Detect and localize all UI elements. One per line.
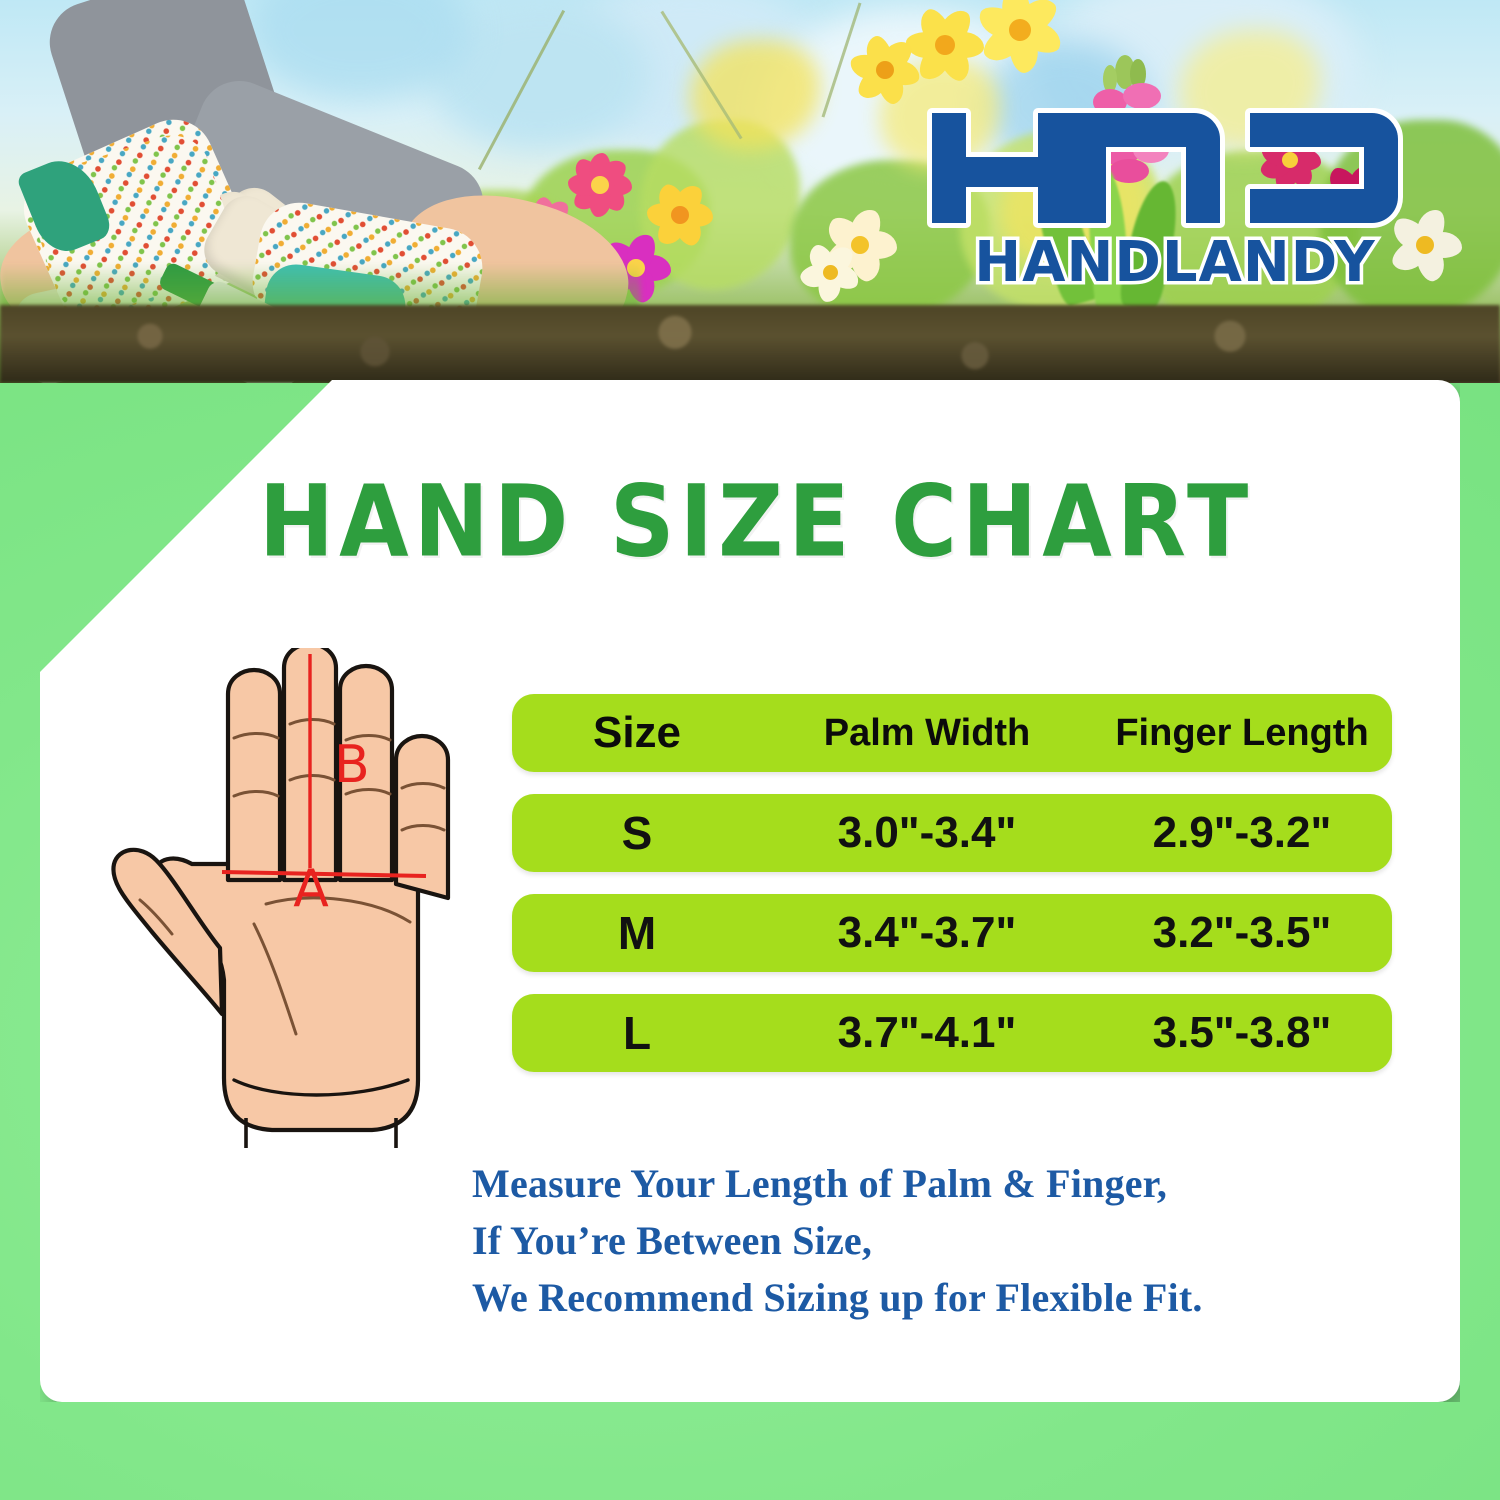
sizing-note-line-3: We Recommend Sizing up for Flexible Fit. <box>472 1270 1432 1327</box>
cell-palm-width: 3.7"-4.1" <box>762 1008 1092 1058</box>
cell-finger-length: 2.9"-3.2" <box>1092 808 1392 858</box>
table-row: M 3.4"-3.7" 3.2"-3.5" <box>512 894 1392 972</box>
column-header-finger-length: Finger Length <box>1092 712 1392 755</box>
table-row: S 3.0"-3.4" 2.9"-3.2" <box>512 794 1392 872</box>
cell-finger-length: 3.2"-3.5" <box>1092 908 1392 958</box>
soil-strip <box>0 305 1500 383</box>
page-title: HAND SIZE CHART <box>0 464 1500 579</box>
size-chart-table: Size Palm Width Finger Length S 3.0"-3.4… <box>512 694 1392 1094</box>
sizing-note-line-2: If You’re Between Size, <box>472 1213 1432 1270</box>
cell-size: S <box>512 806 762 860</box>
sizing-note-line-1: Measure Your Length of Palm & Finger, <box>472 1156 1432 1213</box>
column-header-palm-width: Palm Width <box>762 712 1092 755</box>
cell-size: L <box>512 1006 762 1060</box>
brand-logo: HANDLANDY <box>920 95 1430 290</box>
hand-measurement-diagram: A B <box>96 648 496 1148</box>
cell-size: M <box>512 906 762 960</box>
measure-label-a: A <box>293 859 329 919</box>
cell-palm-width: 3.4"-3.7" <box>762 908 1092 958</box>
measure-label-b: B <box>334 735 370 795</box>
cell-palm-width: 3.0"-3.4" <box>762 808 1092 858</box>
table-row: L 3.7"-4.1" 3.5"-3.8" <box>512 994 1392 1072</box>
logo-wordmark: HANDLANDY <box>974 230 1376 290</box>
sizing-note: Measure Your Length of Palm & Finger, If… <box>472 1156 1432 1326</box>
table-header-row: Size Palm Width Finger Length <box>512 694 1392 772</box>
cell-finger-length: 3.5"-3.8" <box>1092 1008 1392 1058</box>
column-header-size: Size <box>512 708 762 758</box>
